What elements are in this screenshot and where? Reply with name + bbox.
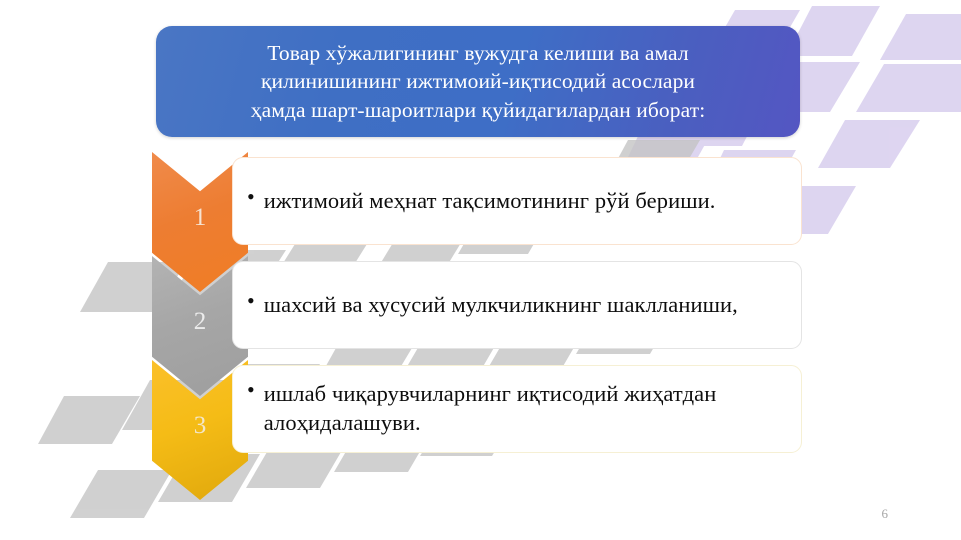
bullet-icon-2: •: [247, 289, 255, 314]
bullet-icon-1: •: [247, 185, 255, 210]
page-title: Товар хўжалигининг вужудга келиши ва ама…: [233, 39, 724, 125]
content-row-1-text: ижтимоий меҳнат тақсимотининг рўй бериши…: [264, 187, 716, 216]
page-number: 6: [882, 506, 889, 522]
content-row-1: • ижтимоий меҳнат тақсимотининг рўй бери…: [232, 157, 802, 245]
content-row-2-text: шахсий ва хусусий мулкчиликнинг шакллани…: [264, 291, 738, 320]
content-row-3-text: ишлаб чиқарувчиларнинг иқтисодий жиҳатда…: [264, 380, 785, 438]
bullet-icon-3: •: [247, 378, 255, 403]
content-row-3: • ишлаб чиқарувчиларнинг иқтисодий жиҳат…: [232, 365, 802, 453]
bullet-line-3: • ишлаб чиқарувчиларнинг иқтисодий жиҳат…: [247, 380, 785, 438]
bullet-line-1: • ижтимоий меҳнат тақсимотининг рўй бери…: [247, 187, 716, 216]
slide-canvas: Товар хўжалигининг вужудга келиши ва ама…: [0, 0, 961, 540]
content-row-2: • шахсий ва хусусий мулкчиликнинг шаклла…: [232, 261, 802, 349]
title-banner: Товар хўжалигининг вужудга келиши ва ама…: [156, 26, 800, 137]
bullet-line-2: • шахсий ва хусусий мулкчиликнинг шаклла…: [247, 291, 738, 320]
